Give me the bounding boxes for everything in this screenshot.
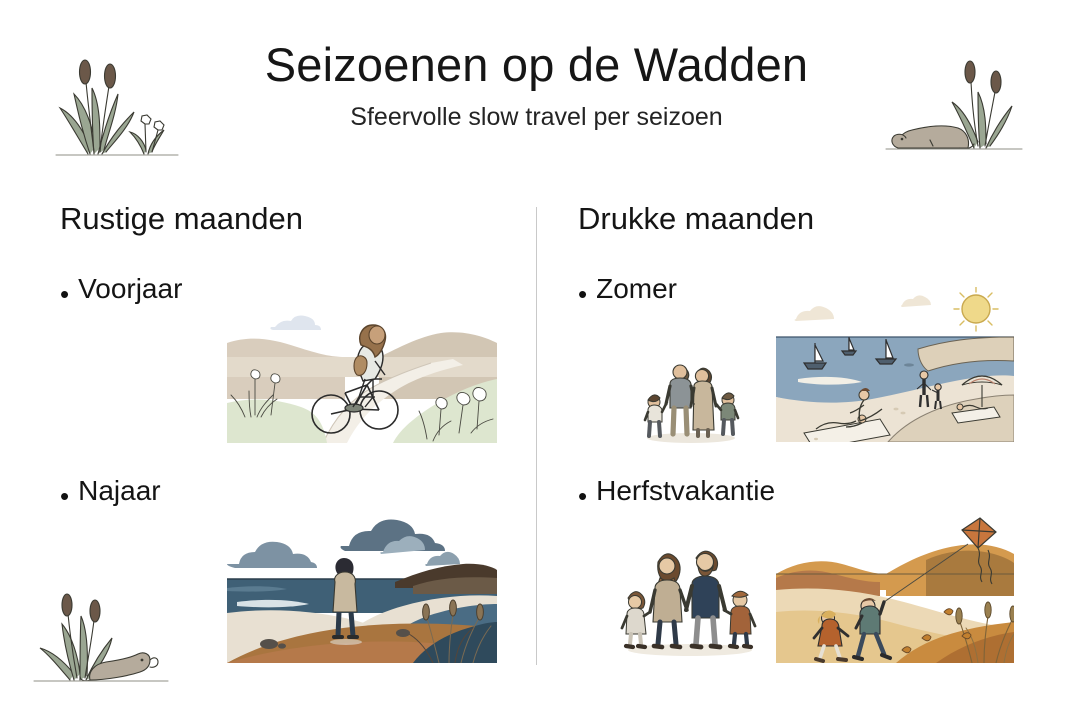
illustration-cyclist-on-dune-path	[227, 313, 497, 443]
illustration-children-flying-kite-in-dunes	[776, 516, 1014, 663]
list-item-herfstvakantie: • Herfstvakantie	[578, 476, 775, 507]
list-item-label: Voorjaar	[78, 274, 182, 305]
column-heading-busy: Drukke maanden	[578, 200, 1048, 237]
poster: Seizoenen op de Wadden Sfeervolle slow t…	[0, 0, 1073, 720]
list-item-zomer: • Zomer	[578, 274, 677, 305]
bullet-icon: •	[60, 281, 69, 307]
bullet-icon: •	[60, 483, 69, 509]
column-busy-months: Drukke maanden	[578, 200, 1048, 237]
illustration-sunny-beach-with-sailboats	[776, 287, 1014, 442]
figure-family-of-four-walking-away	[636, 352, 746, 444]
bullet-icon: •	[578, 281, 587, 307]
seal-with-cattails-icon	[882, 44, 1027, 159]
column-divider	[536, 207, 537, 665]
list-item-label: Herfstvakantie	[596, 476, 775, 507]
list-item-voorjaar: • Voorjaar	[60, 274, 182, 305]
cattails-and-flowers-icon	[46, 42, 186, 162]
seal-with-cattails-icon	[32, 572, 172, 690]
bullet-icon: •	[578, 483, 587, 509]
figure-family-of-four-in-autumn-coats	[610, 536, 770, 658]
illustration-lone-walker-on-stormy-beach	[227, 516, 497, 663]
column-heading-quiet: Rustige maanden	[60, 200, 530, 237]
column-quiet-months: Rustige maanden	[60, 200, 530, 237]
list-item-label: Najaar	[78, 476, 160, 507]
list-item-label: Zomer	[596, 274, 677, 305]
list-item-najaar: • Najaar	[60, 476, 161, 507]
